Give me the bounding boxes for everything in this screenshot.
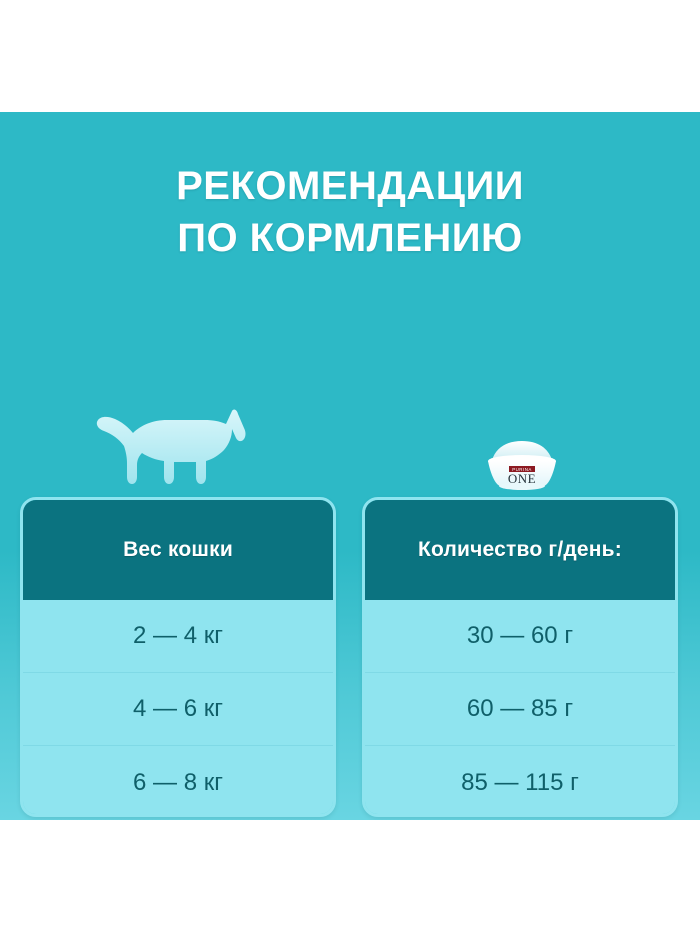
infographic-panel: РЕКОМЕНДАЦИИ ПО КОРМЛЕНИЮ bbox=[0, 112, 700, 820]
pet-food-bowl-icon: PURINA ONE bbox=[466, 438, 578, 490]
table-row: 4 — 6 кг bbox=[23, 673, 333, 746]
page-title-line-2: ПО КОРМЛЕНИЮ bbox=[0, 212, 700, 264]
amount-table-card: Количество г/день: 30 — 60 г 60 — 85 г 8… bbox=[362, 497, 678, 817]
table-row: 30 — 60 г bbox=[365, 600, 675, 673]
table-row: 2 — 4 кг bbox=[23, 600, 333, 673]
weight-column-header: Вес кошки bbox=[23, 500, 333, 600]
table-row: 85 — 115 г bbox=[365, 746, 675, 817]
svg-text:ONE: ONE bbox=[508, 471, 536, 486]
amount-column-body: 30 — 60 г 60 — 85 г 85 — 115 г bbox=[365, 600, 675, 817]
weight-table-card: Вес кошки 2 — 4 кг 4 — 6 кг 6 — 8 кг bbox=[20, 497, 336, 817]
cat-silhouette-icon bbox=[95, 405, 255, 487]
page-title: РЕКОМЕНДАЦИИ ПО КОРМЛЕНИЮ bbox=[0, 160, 700, 264]
table-row: 6 — 8 кг bbox=[23, 746, 333, 817]
weight-column-body: 2 — 4 кг 4 — 6 кг 6 — 8 кг bbox=[23, 600, 333, 817]
page-title-line-1: РЕКОМЕНДАЦИИ bbox=[0, 160, 700, 212]
table-row: 60 — 85 г bbox=[365, 673, 675, 746]
amount-column-header: Количество г/день: bbox=[365, 500, 675, 600]
